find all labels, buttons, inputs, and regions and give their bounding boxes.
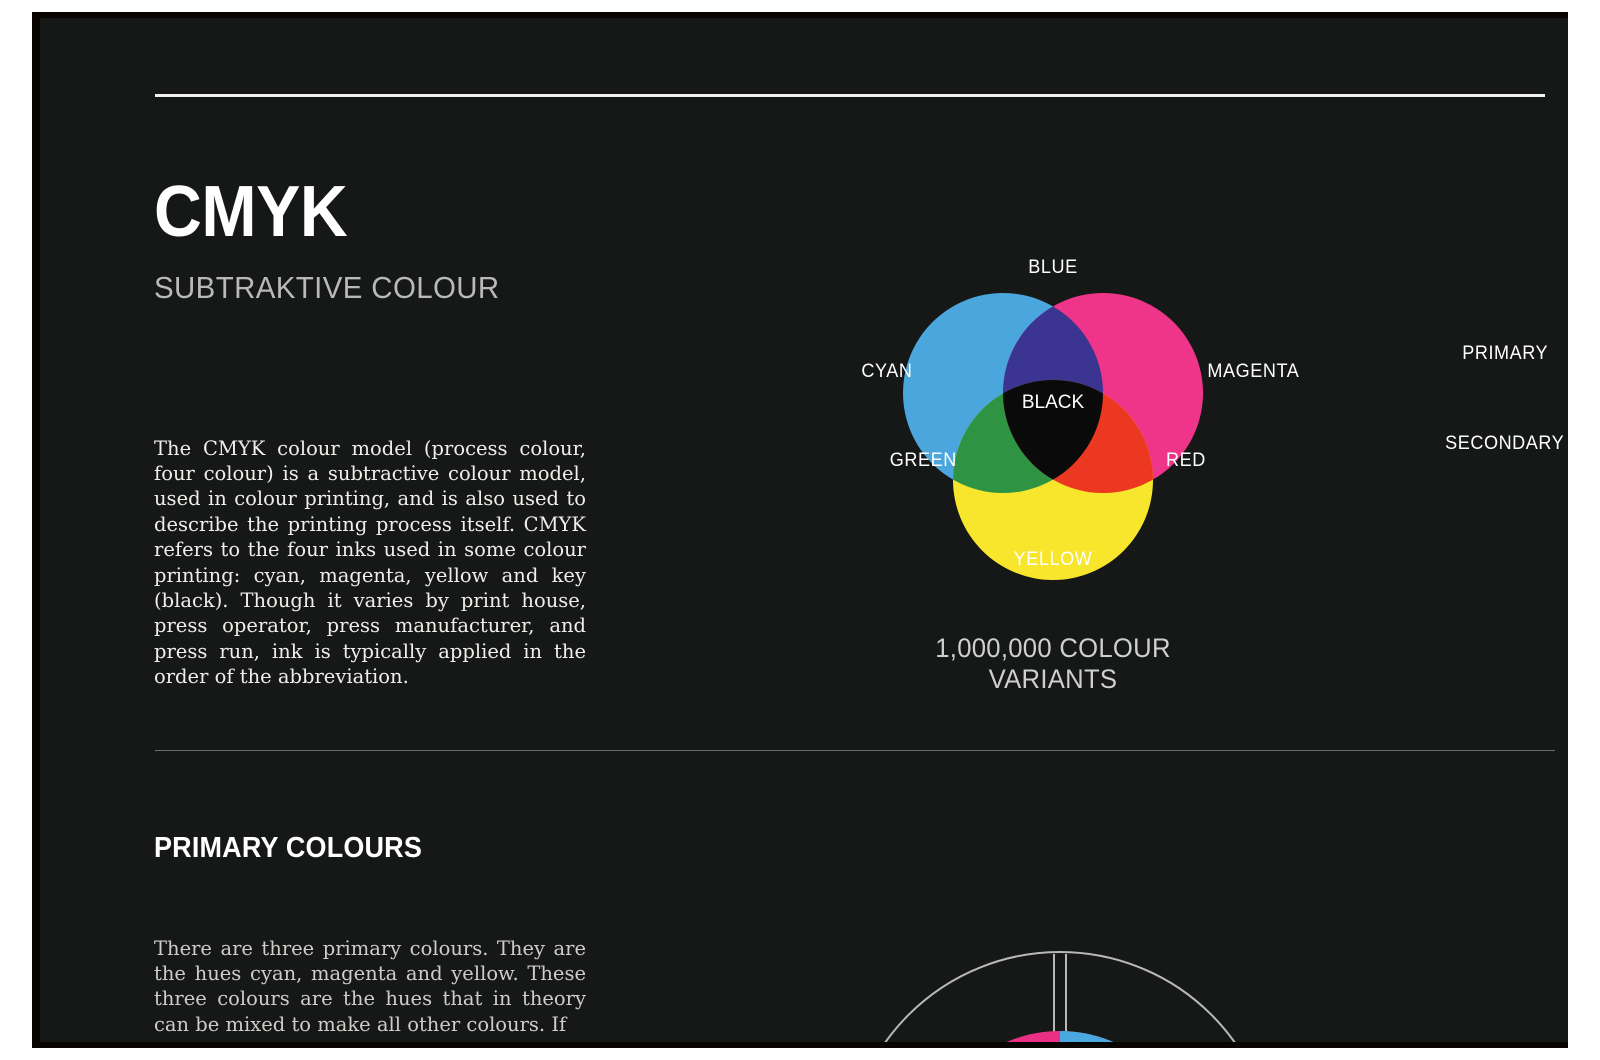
venn-label-red: RED — [1166, 450, 1206, 472]
venn-label-magenta: MAGENTA — [1207, 361, 1299, 383]
section-divider-rule — [155, 750, 1555, 751]
primary-colours-donut-chart — [740, 846, 1380, 1042]
donut-svg — [740, 846, 1380, 1042]
venn-label-black: BLACK — [1022, 392, 1085, 413]
section-heading-primary-colours: PRIMARY COLOURS — [154, 832, 422, 865]
page-subtitle: SUBTRAKTIVE COLOUR — [154, 270, 500, 306]
donut-guide-arc-left — [846, 952, 1060, 1042]
poster-page: CMYK SUBTRAKTIVE COLOUR The CMYK colour … — [40, 18, 1568, 1042]
legend-label-secondary: SECONDARY — [1445, 433, 1564, 455]
venn-label-green: GREEN — [890, 450, 957, 472]
cmyk-venn-diagram: BLACK BLUE CYAN MAGENTA GREEN RED YELLOW — [800, 233, 1320, 583]
primary-colours-paragraph: There are three primary colours. They ar… — [154, 936, 586, 1038]
donut-guide-arc-right — [1060, 952, 1274, 1042]
venn-label-yellow: YELLOW — [1014, 549, 1093, 571]
header-divider-rule — [155, 94, 1545, 97]
intro-paragraph: The CMYK colour model (process colour, f… — [154, 436, 586, 690]
colour-variants-caption: 1,000,000 COLOUR VARIANTS — [868, 633, 1239, 695]
venn-svg: BLACK — [800, 233, 1320, 583]
legend-label-primary: PRIMARY — [1462, 343, 1548, 365]
venn-label-blue: BLUE — [1028, 257, 1077, 279]
venn-label-cyan: CYAN — [861, 361, 912, 383]
page-title: CMYK — [154, 176, 347, 248]
